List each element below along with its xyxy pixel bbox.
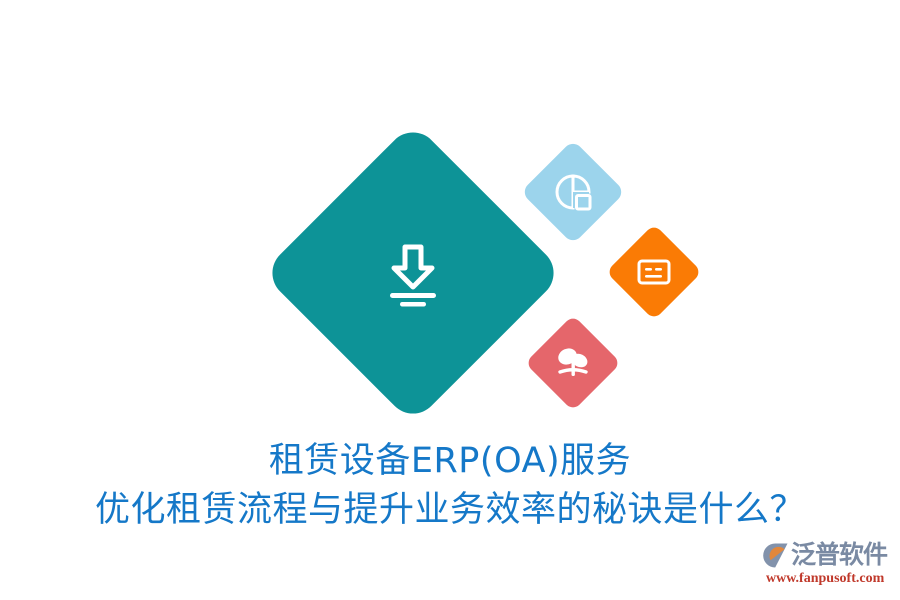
- pie-chart-icon: [551, 170, 595, 214]
- poster-canvas: 租赁设备ERP(OA)服务 优化租赁流程与提升业务效率的秘诀是什么？ 泛普软件 …: [0, 0, 900, 600]
- fanpu-logo-icon: [762, 542, 789, 569]
- brand-url: www.fanpusoft.com: [766, 571, 894, 587]
- brand-row: 泛普软件: [762, 540, 894, 570]
- tile-download[interactable]: [262, 122, 565, 425]
- id-card-icon: [634, 252, 674, 292]
- headline-line-2: 优化租赁流程与提升业务效率的秘诀是什么？: [0, 485, 900, 535]
- tile-pie-chart[interactable]: [521, 140, 626, 245]
- headline-line-1: 租赁设备ERP(OA)服务: [0, 437, 900, 485]
- tile-sprout[interactable]: [525, 315, 621, 411]
- brand-name: 泛普软件: [791, 541, 887, 569]
- tile-id-card[interactable]: [606, 224, 702, 320]
- headline: 租赁设备ERP(OA)服务 优化租赁流程与提升业务效率的秘诀是什么？: [0, 437, 900, 535]
- brand-watermark: 泛普软件 www.fanpusoft.com: [762, 540, 894, 592]
- sprout-icon: [552, 342, 594, 384]
- download-icon: [375, 235, 451, 311]
